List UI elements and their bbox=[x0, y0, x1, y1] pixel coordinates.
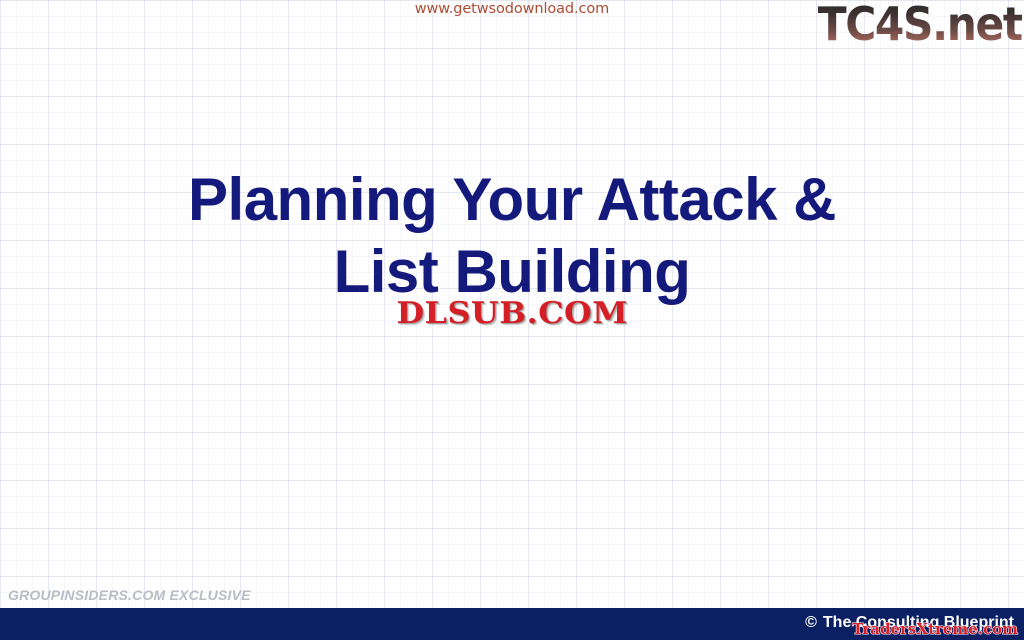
footer-bar: ©The Consulting Blueprint bbox=[0, 608, 1024, 640]
slide-title-line-1: Planning Your Attack & bbox=[0, 164, 1024, 236]
copyright-symbol: © bbox=[805, 614, 817, 631]
footer-copyright-text: The Consulting Blueprint bbox=[823, 614, 1014, 631]
tc4s-site-logo: TC4S.net bbox=[818, 0, 1022, 50]
footer-copyright: ©The Consulting Blueprint bbox=[805, 613, 1014, 633]
slide-title-line-2: List Building bbox=[0, 236, 1024, 308]
exclusive-label: GROUPINSIDERS.COM EXCLUSIVE bbox=[8, 586, 251, 604]
slide-title: Planning Your Attack & List Building bbox=[0, 164, 1024, 308]
slide-canvas: www.getwsodownload.com TC4S.net Planning… bbox=[0, 0, 1024, 640]
